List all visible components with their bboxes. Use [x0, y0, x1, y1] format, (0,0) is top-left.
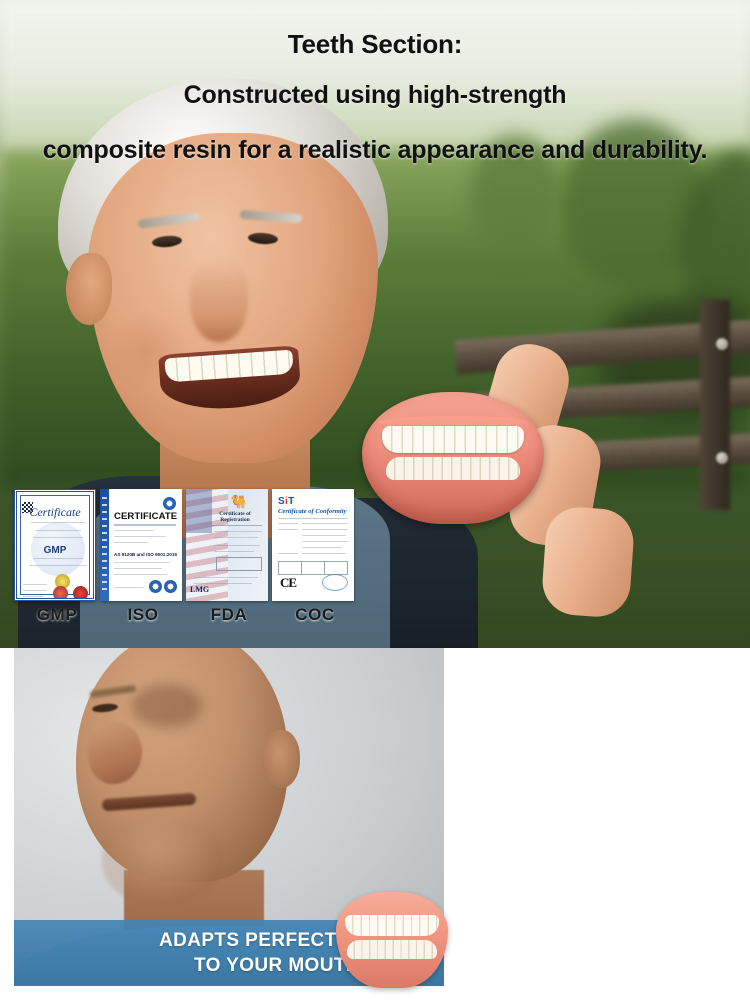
fda-title: Certificate of Registration: [206, 511, 264, 523]
natural-teeth: [164, 350, 293, 383]
ear: [66, 253, 112, 325]
iso-badge-icon: [149, 580, 162, 593]
gmp-mark: GMP: [17, 545, 93, 556]
iso-title: CERTIFICATE: [114, 511, 177, 522]
denture-upper-teeth: [382, 426, 524, 452]
cert-label-gmp: GMP: [14, 605, 100, 635]
stamp-icon: [322, 574, 348, 591]
certificate-coc[interactable]: SiT Certificate of Conformity CE: [272, 489, 354, 601]
product-detail-page: Teeth Section: Constructed using high-st…: [0, 0, 750, 1000]
fda-mark: LMG: [190, 585, 209, 594]
iso-badge-icon: [164, 580, 177, 593]
headline-line-2: Constructed using high-strength: [0, 78, 750, 113]
banner-line-1: ADAPTS PERFECTLY: [159, 928, 360, 953]
fda-detail-box: [216, 557, 262, 571]
headline-line-1: Teeth Section:: [0, 26, 750, 62]
cert-label-coc: COC: [272, 605, 358, 635]
headline-line-3: composite resin for a realistic appearan…: [0, 133, 750, 168]
denture-lower-teeth: [347, 940, 437, 959]
gmp-title: Certificate: [17, 505, 93, 520]
eye-socket-shadow: [132, 684, 202, 728]
certificate-labels: GMP ISO FDA COC: [14, 605, 362, 635]
iso-standard: AS 9120B and ISO 9001:2015: [114, 552, 177, 557]
denture-icon: [362, 392, 544, 524]
certificates-block: Certificate GMP CERTIFICATE: [14, 489, 362, 639]
cert-label-iso: ISO: [100, 605, 186, 635]
iso-side-bar: [100, 489, 109, 601]
certificate-gmp[interactable]: Certificate GMP: [14, 489, 96, 601]
coc-title: Certificate of Conformity: [278, 508, 347, 515]
finger: [540, 505, 635, 619]
ear: [262, 730, 300, 788]
denture-gums: [336, 892, 448, 988]
ce-mark: CE: [280, 575, 296, 591]
iso-badge-icon: [163, 497, 176, 510]
denture-gums: [362, 392, 544, 524]
denture-icon-banner: [336, 892, 448, 988]
cert-label-fda: FDA: [186, 605, 272, 635]
denture-lower-teeth: [386, 457, 521, 481]
banner-text: ADAPTS PERFECTLY TO YOUR MOUTH: [14, 920, 374, 986]
red-seal-icon: [73, 586, 88, 601]
nose: [190, 260, 248, 342]
certificate-iso[interactable]: CERTIFICATE AS 9120B and ISO 9001:2015: [100, 489, 182, 601]
sit-logo: SiT: [278, 496, 295, 507]
denture-upper-teeth: [345, 915, 439, 936]
headline-block: Teeth Section: Constructed using high-st…: [0, 26, 750, 168]
red-seal-icon: [53, 586, 68, 601]
eagle-icon: 🐫: [228, 495, 250, 509]
certificate-thumbnails: Certificate GMP CERTIFICATE: [14, 489, 354, 601]
chin: [102, 820, 222, 906]
coc-data-table: [278, 561, 348, 575]
certificate-fda[interactable]: 🐫 Certificate of Registration LMG: [186, 489, 268, 601]
